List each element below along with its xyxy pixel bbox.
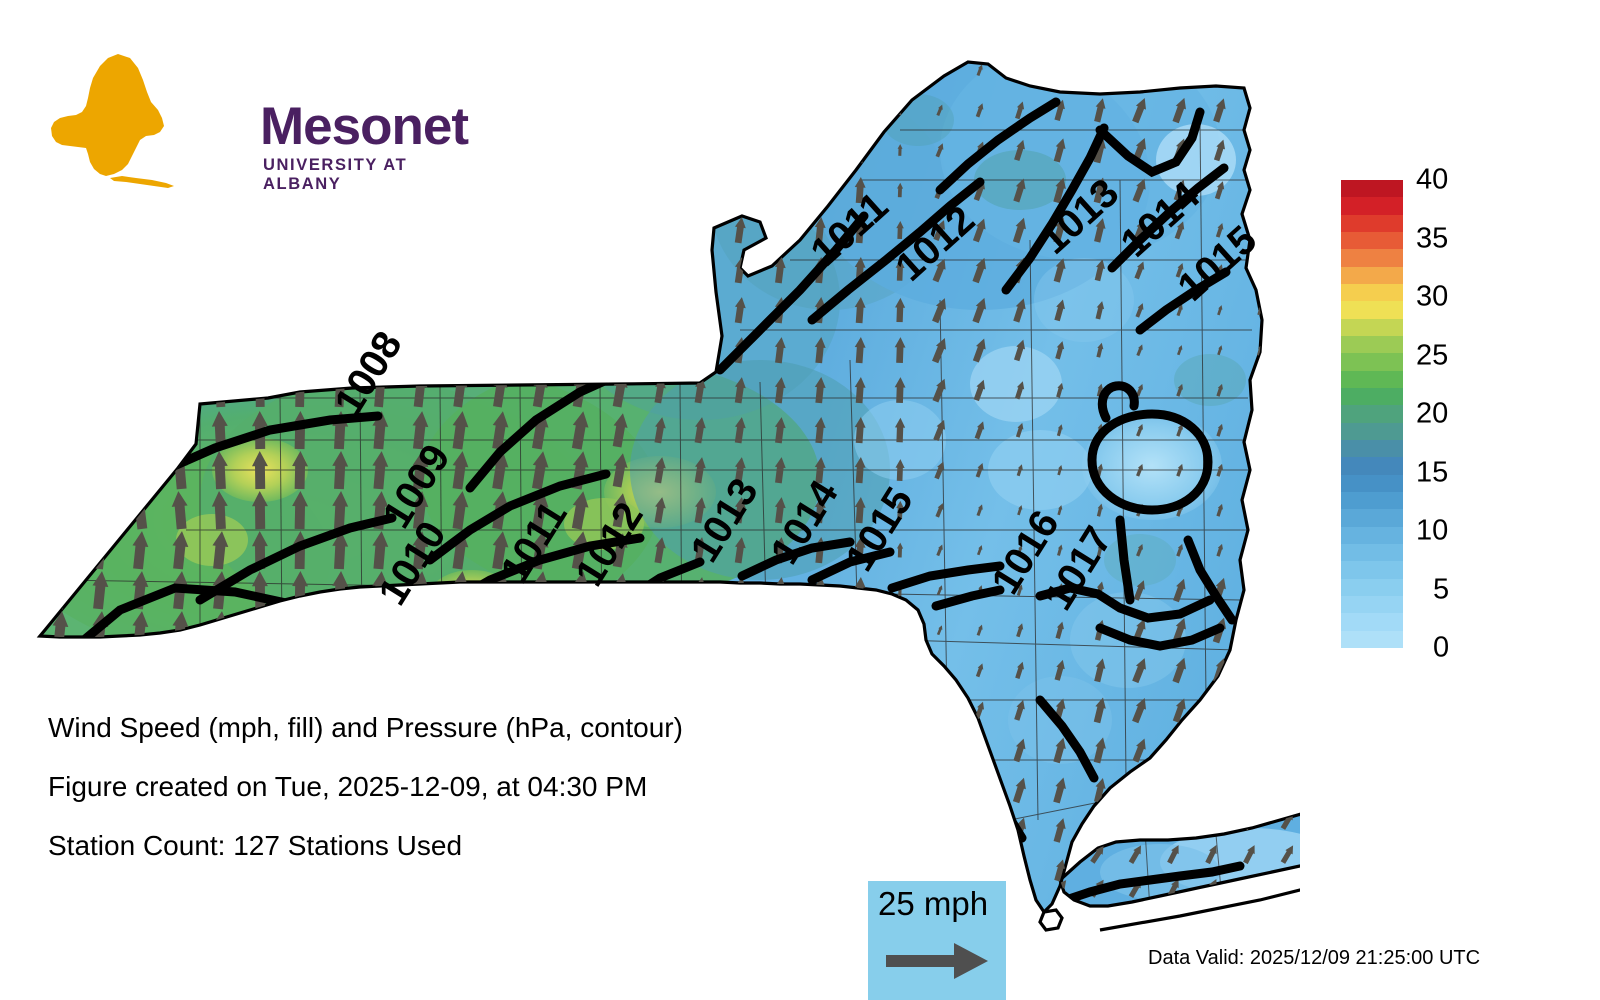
wind-arrow: [1256, 503, 1265, 517]
wind-arrow: [411, 252, 429, 287]
wind-arrow: [252, 611, 268, 649]
wind-arrow: [332, 213, 348, 248]
wind-arrow: [212, 213, 228, 248]
wind-arrow: [895, 819, 905, 840]
colorbar-tick-20: 20: [1416, 398, 1448, 431]
wind-arrow: [212, 293, 228, 328]
wind-arrow: [733, 816, 748, 843]
wind-arrow: [570, 332, 590, 368]
wind-arrow: [773, 216, 787, 243]
wind-arrow: [1255, 742, 1266, 759]
wind-arrow: [733, 56, 748, 83]
wind-arrow: [411, 332, 429, 367]
wind-arrow: [48, 410, 71, 450]
wind-arrow: [292, 213, 307, 247]
wind-arrow: [930, 856, 950, 884]
wind-arrow-icon: [882, 937, 994, 985]
wind-arrow: [733, 96, 748, 123]
caption-block: Wind Speed (mph, fill) and Pressure (hPa…: [48, 712, 683, 889]
wind-arrow: [693, 136, 708, 163]
wind-arrow: [898, 65, 903, 75]
wind-arrow: [210, 890, 230, 929]
wind-arrow: [773, 776, 787, 803]
wind-arrow: [212, 173, 228, 208]
colorbar-band: [1341, 596, 1403, 613]
colorbar-band: [1341, 613, 1403, 630]
wind-arrow: [1204, 809, 1220, 831]
wind-arrow: [530, 132, 550, 168]
wind-arrow: [693, 296, 708, 323]
wind-arrow: [89, 450, 111, 490]
wind-arrow: [610, 652, 630, 688]
wind-arrow: [569, 890, 591, 930]
wind-key-label: 25 mph: [878, 885, 988, 923]
wind-arrow: [530, 52, 550, 88]
wind-arrow: [332, 93, 348, 128]
wind-arrow: [1089, 809, 1107, 830]
wind-arrow: [411, 132, 429, 167]
wind-arrow: [1252, 658, 1267, 682]
wind-arrow: [1254, 700, 1267, 720]
wind-arrow: [610, 892, 630, 928]
wind-arrow: [90, 332, 110, 368]
wind-arrow: [212, 93, 228, 128]
wind-arrow: [935, 702, 946, 717]
wind-arrow: [971, 816, 990, 844]
wind-arrow: [733, 696, 748, 723]
wind-arrow: [50, 52, 71, 88]
colorbar-band: [1341, 544, 1403, 561]
wind-arrow: [212, 133, 228, 168]
wind-arrow: [252, 891, 268, 929]
wind-arrow: [410, 890, 430, 930]
wind-arrow: [370, 650, 389, 689]
wind-arrow: [90, 172, 110, 208]
wind-arrow: [371, 92, 388, 127]
wind-arrow: [1213, 740, 1226, 760]
wind-arrow: [410, 610, 430, 650]
wind-arrow: [854, 697, 867, 724]
wind-arrow: [813, 897, 826, 924]
wind-arrow: [733, 176, 748, 203]
wind-arrow: [932, 779, 948, 802]
colorbar-band: [1341, 232, 1403, 249]
wind-arrow: [451, 252, 470, 288]
wind-arrow: [131, 132, 149, 168]
wind-arrow: [530, 332, 550, 368]
colorbar-band: [1341, 353, 1403, 370]
wind-arrow: [773, 856, 787, 883]
wind-arrow: [131, 252, 149, 288]
wind-arrow: [253, 53, 268, 87]
wind-arrow: [570, 292, 590, 328]
wind-arrow: [130, 890, 150, 929]
wind-arrow: [897, 704, 902, 716]
wind-arrow: [371, 292, 388, 327]
wind-arrow: [90, 212, 110, 248]
wind-arrow: [212, 253, 228, 288]
wind-arrow: [253, 333, 268, 367]
wind-arrow: [1256, 423, 1265, 437]
colorbar-band: [1341, 527, 1403, 544]
colorbar-tick-30: 30: [1416, 281, 1448, 314]
wind-arrow: [610, 612, 630, 648]
wind-arrow: [171, 372, 188, 407]
wind-arrow: [89, 410, 111, 450]
wind-arrow: [854, 857, 867, 884]
wind-arrow: [1174, 822, 1185, 839]
wind-arrow: [1256, 463, 1265, 477]
wind-arrow: [1171, 56, 1190, 84]
wind-arrow: [131, 332, 149, 368]
wind-arrow: [773, 896, 787, 923]
wind-arrow: [490, 92, 509, 128]
wind-arrow: [610, 292, 630, 328]
wind-arrow: [171, 52, 188, 87]
wind-arrow: [332, 253, 348, 288]
wind-arrow: [813, 137, 826, 164]
wind-arrow: [1256, 783, 1265, 796]
wind-arrow: [570, 172, 590, 208]
wind-arrow: [1211, 56, 1229, 84]
wind-arrow: [130, 650, 150, 689]
wind-arrow: [212, 53, 228, 88]
wind-arrow: [854, 657, 867, 684]
wind-arrow: [170, 890, 190, 929]
wind-arrow: [490, 132, 509, 168]
wind-arrow: [1133, 820, 1147, 840]
wind-arrow: [171, 172, 188, 207]
wind-arrow: [854, 737, 867, 764]
wind-arrow: [1254, 140, 1267, 160]
wind-arrow: [693, 776, 708, 803]
wind-arrow: [570, 132, 590, 168]
caption-created: Figure created on Tue, 2025-12-09, at 04…: [48, 771, 683, 803]
wind-arrow: [1054, 60, 1066, 79]
wind-arrow: [50, 890, 70, 929]
wind-arrow: [1253, 98, 1268, 121]
wind-arrow: [371, 132, 388, 167]
wind-arrow: [652, 336, 667, 363]
wind-arrow: [212, 333, 228, 368]
colorbar-tick-25: 25: [1416, 339, 1448, 372]
wind-arrow: [693, 896, 708, 923]
wind-arrow: [371, 52, 388, 87]
colorbar-band: [1341, 579, 1403, 596]
wind-arrow: [610, 212, 630, 248]
wind-arrow: [1255, 182, 1265, 198]
wind-arrow: [451, 52, 470, 88]
wind-arrow: [1256, 904, 1264, 916]
wind-arrow: [1093, 818, 1107, 842]
wind-arrow: [253, 173, 268, 207]
wind-arrow: [1252, 57, 1269, 83]
wind-arrow: [813, 177, 826, 204]
wind-arrow: [253, 253, 268, 287]
wind-arrow: [693, 656, 708, 683]
wind-arrow: [292, 173, 307, 207]
wind-arrow: [1256, 383, 1265, 397]
wind-arrow: [90, 52, 110, 88]
wind-arrow: [90, 650, 110, 689]
colorbar-band: [1341, 561, 1403, 578]
wind-arrow: [569, 610, 591, 650]
wind-arrow: [652, 216, 667, 243]
wind-arrow: [970, 856, 989, 884]
wind-arrow: [131, 372, 149, 408]
wind-arrow: [490, 292, 509, 328]
wind-arrow: [569, 650, 591, 690]
wind-arrow: [652, 96, 667, 123]
wind-arrow: [292, 253, 307, 287]
wind-arrow: [652, 616, 667, 643]
wind-arrow: [130, 450, 151, 490]
wind-arrow: [652, 896, 667, 923]
wind-arrow: [1093, 59, 1107, 82]
wind-arrow: [451, 332, 470, 368]
wind-arrow: [50, 292, 71, 328]
wind-arrow: [1251, 617, 1268, 644]
wind-arrow: [813, 817, 826, 844]
wind-arrow: [371, 172, 388, 207]
wind-arrow: [854, 897, 867, 924]
wind-arrow: [652, 56, 667, 83]
wind-arrow: [652, 256, 667, 283]
colorbar-band: [1341, 284, 1403, 301]
wind-arrow: [48, 450, 71, 490]
wind-arrow: [292, 891, 309, 929]
wind-arrow: [253, 293, 268, 327]
colorbar-band: [1341, 215, 1403, 232]
wind-arrow: [210, 650, 230, 689]
wind-arrow: [529, 610, 551, 650]
wind-arrow: [50, 252, 71, 288]
colorbar-band: [1341, 336, 1403, 353]
wind-arrow: [1256, 224, 1264, 237]
wind-arrow: [490, 252, 509, 288]
wind-arrow: [1012, 898, 1028, 922]
wind-arrow: [170, 650, 190, 689]
wind-arrow: [570, 212, 590, 248]
wind-arrow: [90, 292, 110, 328]
wind-arrow: [48, 490, 71, 530]
wind-arrow: [370, 610, 389, 649]
wind-arrow: [1127, 809, 1144, 831]
wind-arrow: [1015, 62, 1025, 78]
wind-arrow: [332, 53, 348, 88]
wind-arrow: [733, 736, 748, 763]
wind-arrow: [1212, 698, 1228, 722]
wind-arrow: [171, 292, 188, 327]
wind-arrow: [292, 93, 307, 127]
wind-arrow: [489, 610, 511, 650]
wind-arrow: [854, 97, 867, 124]
wind-arrow: [1242, 877, 1259, 899]
wind-arrow: [610, 52, 630, 88]
colorbar-band: [1341, 319, 1403, 336]
colorbar-band: [1341, 509, 1403, 526]
wind-arrow: [490, 172, 509, 208]
colorbar-tick-15: 15: [1416, 456, 1448, 489]
wind-arrow: [450, 650, 471, 690]
wind-arrow: [332, 293, 348, 328]
wind-arrow: [131, 92, 149, 128]
wind-arrow: [50, 172, 71, 208]
wind-arrow: [170, 410, 189, 449]
wind-arrow: [171, 252, 188, 287]
wind-arrow: [90, 132, 110, 168]
colorbar-band: [1341, 475, 1403, 492]
wind-speed-colorbar: [1341, 180, 1403, 648]
wind-arrow: [1172, 738, 1188, 762]
colorbar-tick-labels: 4035302520151050: [1416, 180, 1496, 648]
wind-arrow: [693, 696, 708, 723]
wind-arrow: [693, 56, 708, 83]
wind-arrow: [898, 625, 903, 635]
wind-arrow: [1131, 57, 1149, 83]
colorbar-tick-0: 0: [1433, 632, 1449, 665]
wind-arrow: [171, 132, 188, 167]
wind-arrow: [253, 133, 268, 167]
wind-arrow: [933, 741, 946, 760]
wind-arrow: [450, 890, 471, 930]
wind-arrow: [90, 372, 110, 408]
wind-arrow: [693, 176, 708, 203]
wind-scale-key: 25 mph: [868, 881, 1006, 1000]
wind-arrow: [530, 92, 550, 128]
wind-arrow: [898, 665, 903, 675]
wind-arrow: [693, 616, 708, 643]
wind-arrow: [693, 256, 708, 283]
wind-arrow: [813, 617, 826, 644]
colorbar-tick-35: 35: [1416, 222, 1448, 255]
wind-arrow: [652, 136, 667, 163]
wind-arrow: [332, 333, 348, 368]
wind-arrow: [936, 64, 944, 75]
colorbar-band: [1341, 631, 1403, 648]
wind-arrow: [370, 890, 389, 929]
colorbar-band: [1341, 388, 1403, 405]
wind-arrow: [733, 616, 748, 643]
wind-arrow: [530, 212, 550, 248]
wind-arrow: [131, 212, 149, 248]
wind-arrow: [130, 410, 151, 450]
wind-arrow: [50, 530, 70, 569]
wind-arrow: [693, 96, 708, 123]
wind-arrow: [411, 212, 429, 247]
wind-arrow: [733, 776, 748, 803]
wind-arrow: [451, 92, 470, 128]
wind-arrow: [451, 292, 470, 328]
wind-arrow: [1166, 809, 1183, 831]
wind-arrow: [371, 252, 388, 287]
wind-arrow: [530, 172, 550, 208]
wind-arrow: [292, 53, 307, 87]
wind-arrow: [854, 617, 867, 644]
wind-arrow: [1132, 778, 1149, 802]
wind-arrow: [773, 736, 787, 763]
colorbar-band: [1341, 440, 1403, 457]
colorbar-tick-5: 5: [1433, 573, 1449, 606]
wind-arrow: [971, 777, 989, 803]
wind-arrow: [332, 173, 348, 208]
wind-arrow: [292, 651, 309, 689]
wind-arrow: [693, 336, 708, 363]
wind-arrow: [50, 132, 71, 168]
wind-arrow: [131, 52, 149, 88]
wind-arrow: [529, 890, 551, 930]
wind-arrow: [451, 132, 470, 168]
wind-arrow: [773, 136, 787, 163]
wind-arrow: [450, 610, 471, 650]
wind-arrow: [331, 611, 349, 650]
wind-arrow: [813, 57, 826, 84]
wind-arrow: [1251, 576, 1269, 604]
wind-arrow: [610, 172, 630, 208]
wind-arrow: [733, 856, 748, 883]
wind-arrow: [813, 737, 826, 764]
colorbar-tick-40: 40: [1416, 164, 1448, 197]
wind-arrow: [693, 816, 708, 843]
wind-arrow: [897, 743, 903, 757]
colorbar-band: [1341, 371, 1403, 388]
wind-arrow: [90, 890, 110, 929]
wind-arrow: [773, 696, 787, 723]
wind-arrow: [733, 656, 748, 683]
wind-arrow: [50, 212, 71, 248]
wind-arrow: [131, 172, 149, 208]
wind-arrow: [1173, 780, 1187, 800]
wind-arrow: [292, 133, 307, 167]
wind-arrow: [652, 296, 667, 323]
wind-arrow: [50, 650, 70, 689]
wind-arrow: [652, 656, 667, 683]
wind-arrow: [50, 92, 71, 128]
wind-arrow: [331, 891, 349, 930]
wind-arrow: [733, 896, 748, 923]
colorbar-band: [1341, 249, 1403, 266]
wind-arrow: [896, 781, 904, 799]
wind-arrow: [411, 52, 429, 87]
wind-arrow: [610, 132, 630, 168]
wind-arrow: [451, 212, 470, 248]
wind-arrow: [693, 736, 708, 763]
wind-arrow: [489, 890, 511, 930]
wind-arrow: [813, 97, 826, 124]
wind-arrow: [813, 777, 826, 804]
wind-arrow: [411, 172, 429, 207]
wind-arrow: [411, 92, 429, 127]
wind-arrow: [331, 651, 349, 690]
wind-arrow: [253, 93, 268, 127]
wind-arrow: [854, 817, 867, 844]
wind-arrow: [253, 213, 268, 247]
wind-arrow: [773, 816, 787, 843]
wind-arrow: [854, 777, 867, 804]
wind-arrow: [610, 332, 630, 368]
wind-arrow: [529, 650, 551, 690]
colorbar-band: [1341, 180, 1403, 197]
colorbar-band: [1341, 267, 1403, 284]
wind-arrow: [813, 857, 826, 884]
wind-arrow: [90, 92, 110, 128]
wind-arrow: [90, 252, 110, 288]
wind-arrow: [490, 212, 509, 248]
wind-arrow: [171, 212, 188, 247]
wind-arrow: [410, 650, 430, 690]
wind-arrow: [895, 858, 906, 882]
wind-arrow: [530, 292, 550, 328]
